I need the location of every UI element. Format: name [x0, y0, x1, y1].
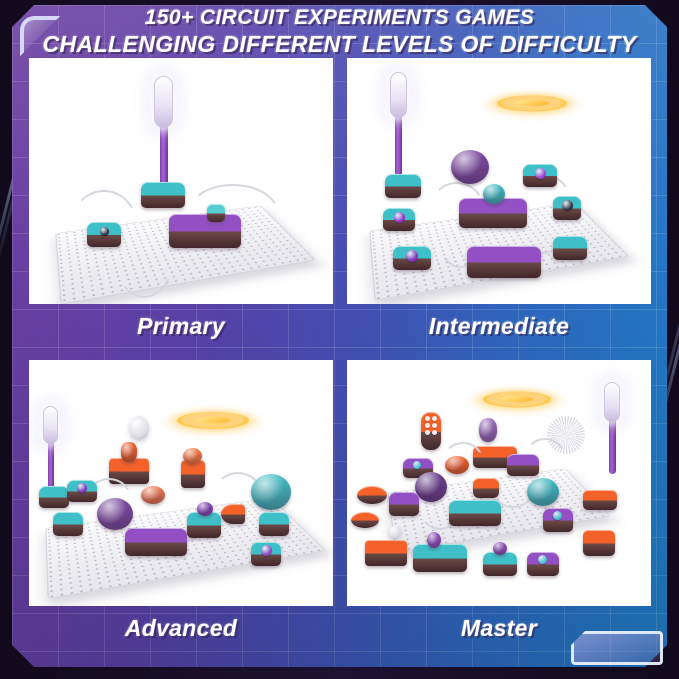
knob-icon — [427, 532, 441, 548]
circuit-scene-intermediate — [347, 58, 651, 304]
levitating-ball-icon — [129, 416, 149, 440]
connector-wire — [71, 190, 137, 224]
led-dot-icon — [77, 483, 87, 493]
snap-module — [553, 236, 587, 260]
snap-module — [39, 486, 69, 508]
led-lamp-head-icon — [604, 382, 620, 422]
power-supply-module — [169, 214, 241, 248]
level-label-primary: Primary — [29, 304, 333, 348]
accessory-module — [351, 512, 379, 528]
led-dot-icon — [394, 212, 405, 223]
difficulty-level-grid: Primary — [29, 58, 651, 650]
product-photo-intermediate — [347, 58, 651, 304]
led-lamp-head-icon — [154, 76, 173, 128]
led-lamp-stem — [395, 114, 402, 176]
led-dot-icon — [406, 250, 418, 262]
snap-module — [389, 492, 419, 516]
flying-disc-icon — [495, 95, 569, 111]
snap-module — [393, 246, 431, 270]
accessory-post-icon — [121, 442, 137, 462]
snap-module — [543, 508, 573, 532]
led-dot-icon — [425, 416, 430, 421]
knob-icon — [483, 184, 505, 204]
accessory-module — [181, 460, 205, 488]
led-dot-icon — [535, 168, 546, 179]
led-lamp-stem — [609, 416, 616, 474]
level-card-primary: Primary — [29, 58, 333, 348]
snap-module — [141, 182, 185, 208]
circuit-scene-master — [347, 360, 651, 606]
snap-module — [383, 208, 415, 231]
accessory-cap-icon — [445, 456, 469, 474]
snap-module — [87, 222, 121, 247]
knob-icon — [197, 502, 213, 516]
led-lamp-head-icon — [43, 406, 58, 444]
connector-wire — [187, 184, 279, 214]
snap-module — [67, 480, 97, 502]
circuit-scene-primary — [29, 58, 333, 304]
led-dot-icon — [261, 545, 272, 556]
accessory-cap-icon — [183, 448, 202, 464]
led-dot-icon — [538, 555, 547, 564]
accessory-module — [473, 478, 499, 498]
accessory-post-icon — [479, 418, 497, 442]
snap-module — [187, 512, 221, 538]
accessory-module — [365, 540, 407, 566]
product-photo-advanced — [29, 360, 333, 606]
ball-icon — [389, 526, 401, 538]
accessory-cap-icon — [141, 486, 165, 504]
snap-module — [259, 512, 289, 536]
led-lamp-head-icon — [390, 72, 407, 118]
circuit-kit-infographic: 150+ CIRCUIT EXPERIMENTS GAMES CHALLENGI… — [0, 0, 679, 679]
led-dot-icon — [553, 511, 562, 520]
snap-module — [251, 542, 281, 566]
led-dot-icon — [425, 423, 430, 428]
circuit-scene-advanced — [29, 360, 333, 606]
level-label-intermediate: Intermediate — [347, 304, 651, 348]
level-card-advanced: Advanced — [29, 360, 333, 650]
led-dot-icon — [413, 461, 421, 469]
speaker-module-icon — [527, 478, 559, 506]
switch-dot-icon — [100, 227, 109, 236]
product-photo-master — [347, 360, 651, 606]
motor-module-icon — [97, 498, 133, 530]
snap-module — [449, 500, 501, 526]
led-dot-icon — [425, 430, 430, 435]
level-card-master: Master — [347, 360, 651, 650]
snap-module — [53, 512, 83, 536]
accessory-module — [357, 486, 387, 504]
led-dot-icon — [432, 430, 437, 435]
accessory-module — [221, 504, 245, 524]
level-label-master: Master — [347, 606, 651, 650]
snap-module — [413, 544, 467, 572]
led-lamp-stem — [48, 438, 54, 490]
snap-module — [385, 174, 421, 198]
led-bar-module — [421, 412, 441, 450]
power-supply-module — [467, 246, 541, 278]
speaker-module-icon — [251, 474, 291, 510]
accessory-module — [583, 530, 615, 556]
snap-module — [507, 454, 539, 476]
product-photo-primary — [29, 58, 333, 304]
led-lamp-stem — [160, 122, 168, 190]
flying-disc-icon — [175, 412, 252, 429]
level-card-intermediate: Intermediate — [347, 58, 651, 348]
power-supply-module — [125, 528, 187, 556]
led-dot-icon — [432, 423, 437, 428]
accessory-module — [583, 490, 617, 510]
level-label-advanced: Advanced — [29, 606, 333, 650]
flying-disc-icon — [481, 391, 553, 407]
snap-module — [553, 196, 581, 220]
snap-module — [527, 552, 559, 576]
snap-module — [523, 164, 557, 187]
motor-module-icon — [415, 472, 447, 502]
led-dot-icon — [432, 416, 437, 421]
snap-module — [483, 552, 517, 576]
knob-icon — [493, 542, 507, 555]
motor-module-icon — [451, 150, 489, 184]
toggle-switch-icon — [207, 204, 225, 222]
sensor-dot-icon — [562, 200, 573, 211]
